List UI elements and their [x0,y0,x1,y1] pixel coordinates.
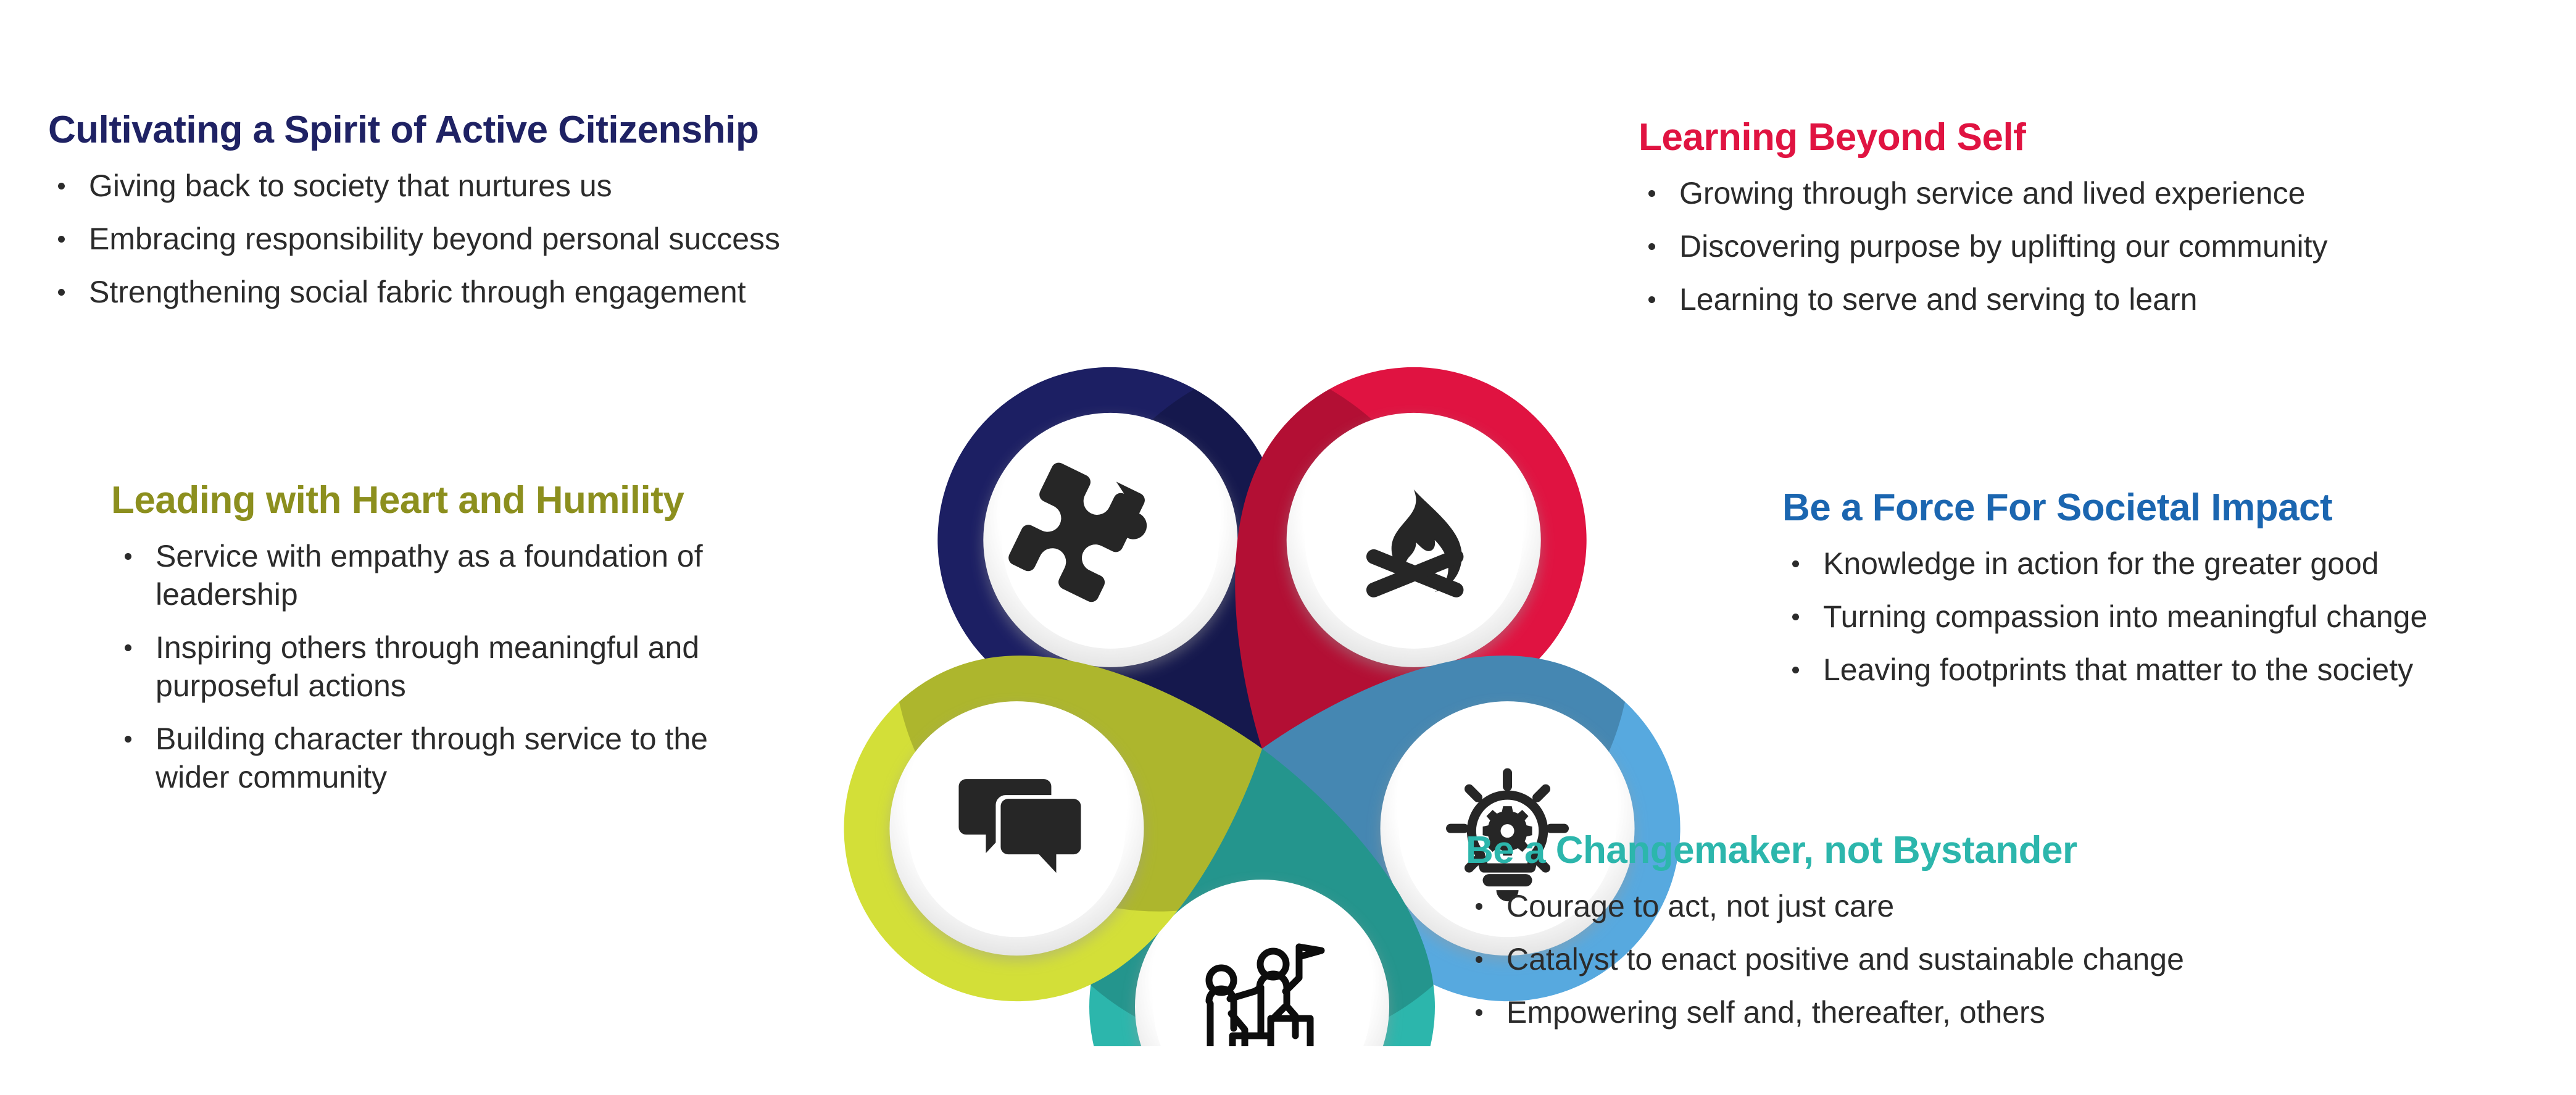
bullet-text: Learning to serve and serving to learn [1679,282,2197,317]
bullet-dot [1792,614,1799,620]
bullet-list-learning: Growing through service and lived experi… [1639,174,2503,319]
bullet-text: Service with empathy as a foundation of … [156,539,703,612]
bullet-text: Inspiring others through meaningful and … [156,630,699,703]
list-item: Growing through service and lived experi… [1639,174,2503,212]
list-item: Discovering purpose by uplifting our com… [1639,227,2503,265]
bullet-text: Empowering self and, thereafter, others [1506,995,2045,1030]
bullet-text: Knowledge in action for the greater good [1823,546,2379,581]
list-item: Knowledge in action for the greater good [1782,544,2535,583]
petal-disc-learning [1287,413,1541,667]
bullet-text: Strengthening social fabric through enga… [89,275,746,309]
bullet-dot [1648,190,1655,197]
heading-changemaker: Be a Changemaker, not Bystander [1466,830,2256,871]
bullet-dot [58,289,65,296]
list-item: Embracing responsibility beyond personal… [48,220,869,258]
bullet-list-changemaker: Courage to act, not just care Catalyst t… [1466,887,2256,1031]
value-block-learning: Learning Beyond Self Growing through ser… [1639,117,2503,319]
bullet-dot [58,236,65,243]
petal-disc-leading [889,701,1144,956]
bullet-dot [125,553,131,560]
list-item: Courage to act, not just care [1466,887,2256,925]
heading-citizenship: Cultivating a Spirit of Active Citizensh… [48,110,869,151]
value-block-leading: Leading with Heart and Humility Service … [111,480,747,796]
list-item: Learning to serve and serving to learn [1639,280,2503,319]
petal-disc-citizenship [983,413,1237,667]
list-item: Building character through service to th… [111,720,747,796]
bullet-text: Courage to act, not just care [1506,889,1894,923]
bullet-dot [1476,903,1482,910]
bullet-dot [58,183,65,189]
bullet-dot [1792,560,1799,567]
bullet-text: Leaving footprints that matter to the so… [1823,652,2413,687]
bullet-text: Discovering purpose by uplifting our com… [1679,229,2328,264]
list-item: Inspiring others through meaningful and … [111,628,747,705]
value-block-force: Be a Force For Societal Impact Knowledge… [1782,488,2535,689]
value-block-changemaker: Be a Changemaker, not Bystander Courage … [1466,830,2256,1031]
bullet-text: Building character through service to th… [156,722,708,794]
bullet-dot [1792,667,1799,673]
infographic-canvas: Cultivating a Spirit of Active Citizensh… [0,0,2576,1095]
value-block-citizenship: Cultivating a Spirit of Active Citizensh… [48,110,869,311]
list-item: Catalyst to enact positive and sustainab… [1466,940,2256,978]
heading-force: Be a Force For Societal Impact [1782,488,2535,528]
bullet-list-leading: Service with empathy as a foundation of … [111,537,747,796]
heading-learning: Learning Beyond Self [1639,117,2503,158]
bullet-list-citizenship: Giving back to society that nurtures us … [48,167,869,311]
bullet-dot [1648,243,1655,250]
bullet-dot [1648,296,1655,303]
bullet-list-force: Knowledge in action for the greater good… [1782,544,2535,689]
bullet-text: Embracing responsibility beyond personal… [89,222,780,256]
bullet-dot [1476,956,1482,963]
list-item: Service with empathy as a foundation of … [111,537,747,614]
list-item: Leaving footprints that matter to the so… [1782,651,2535,689]
list-item: Giving back to society that nurtures us [48,167,869,205]
heading-leading: Leading with Heart and Humility [111,480,747,521]
list-item: Turning compassion into meaningful chang… [1782,597,2535,636]
bullet-text: Turning compassion into meaningful chang… [1823,599,2427,634]
bullet-dot [1476,1009,1482,1016]
bullet-text: Giving back to society that nurtures us [89,169,612,203]
bullet-text: Growing through service and lived experi… [1679,176,2305,210]
bullet-text: Catalyst to enact positive and sustainab… [1506,942,2184,976]
bullet-dot [125,736,131,743]
list-item: Strengthening social fabric through enga… [48,273,869,311]
bullet-dot [125,644,131,651]
list-item: Empowering self and, thereafter, others [1466,993,2256,1031]
